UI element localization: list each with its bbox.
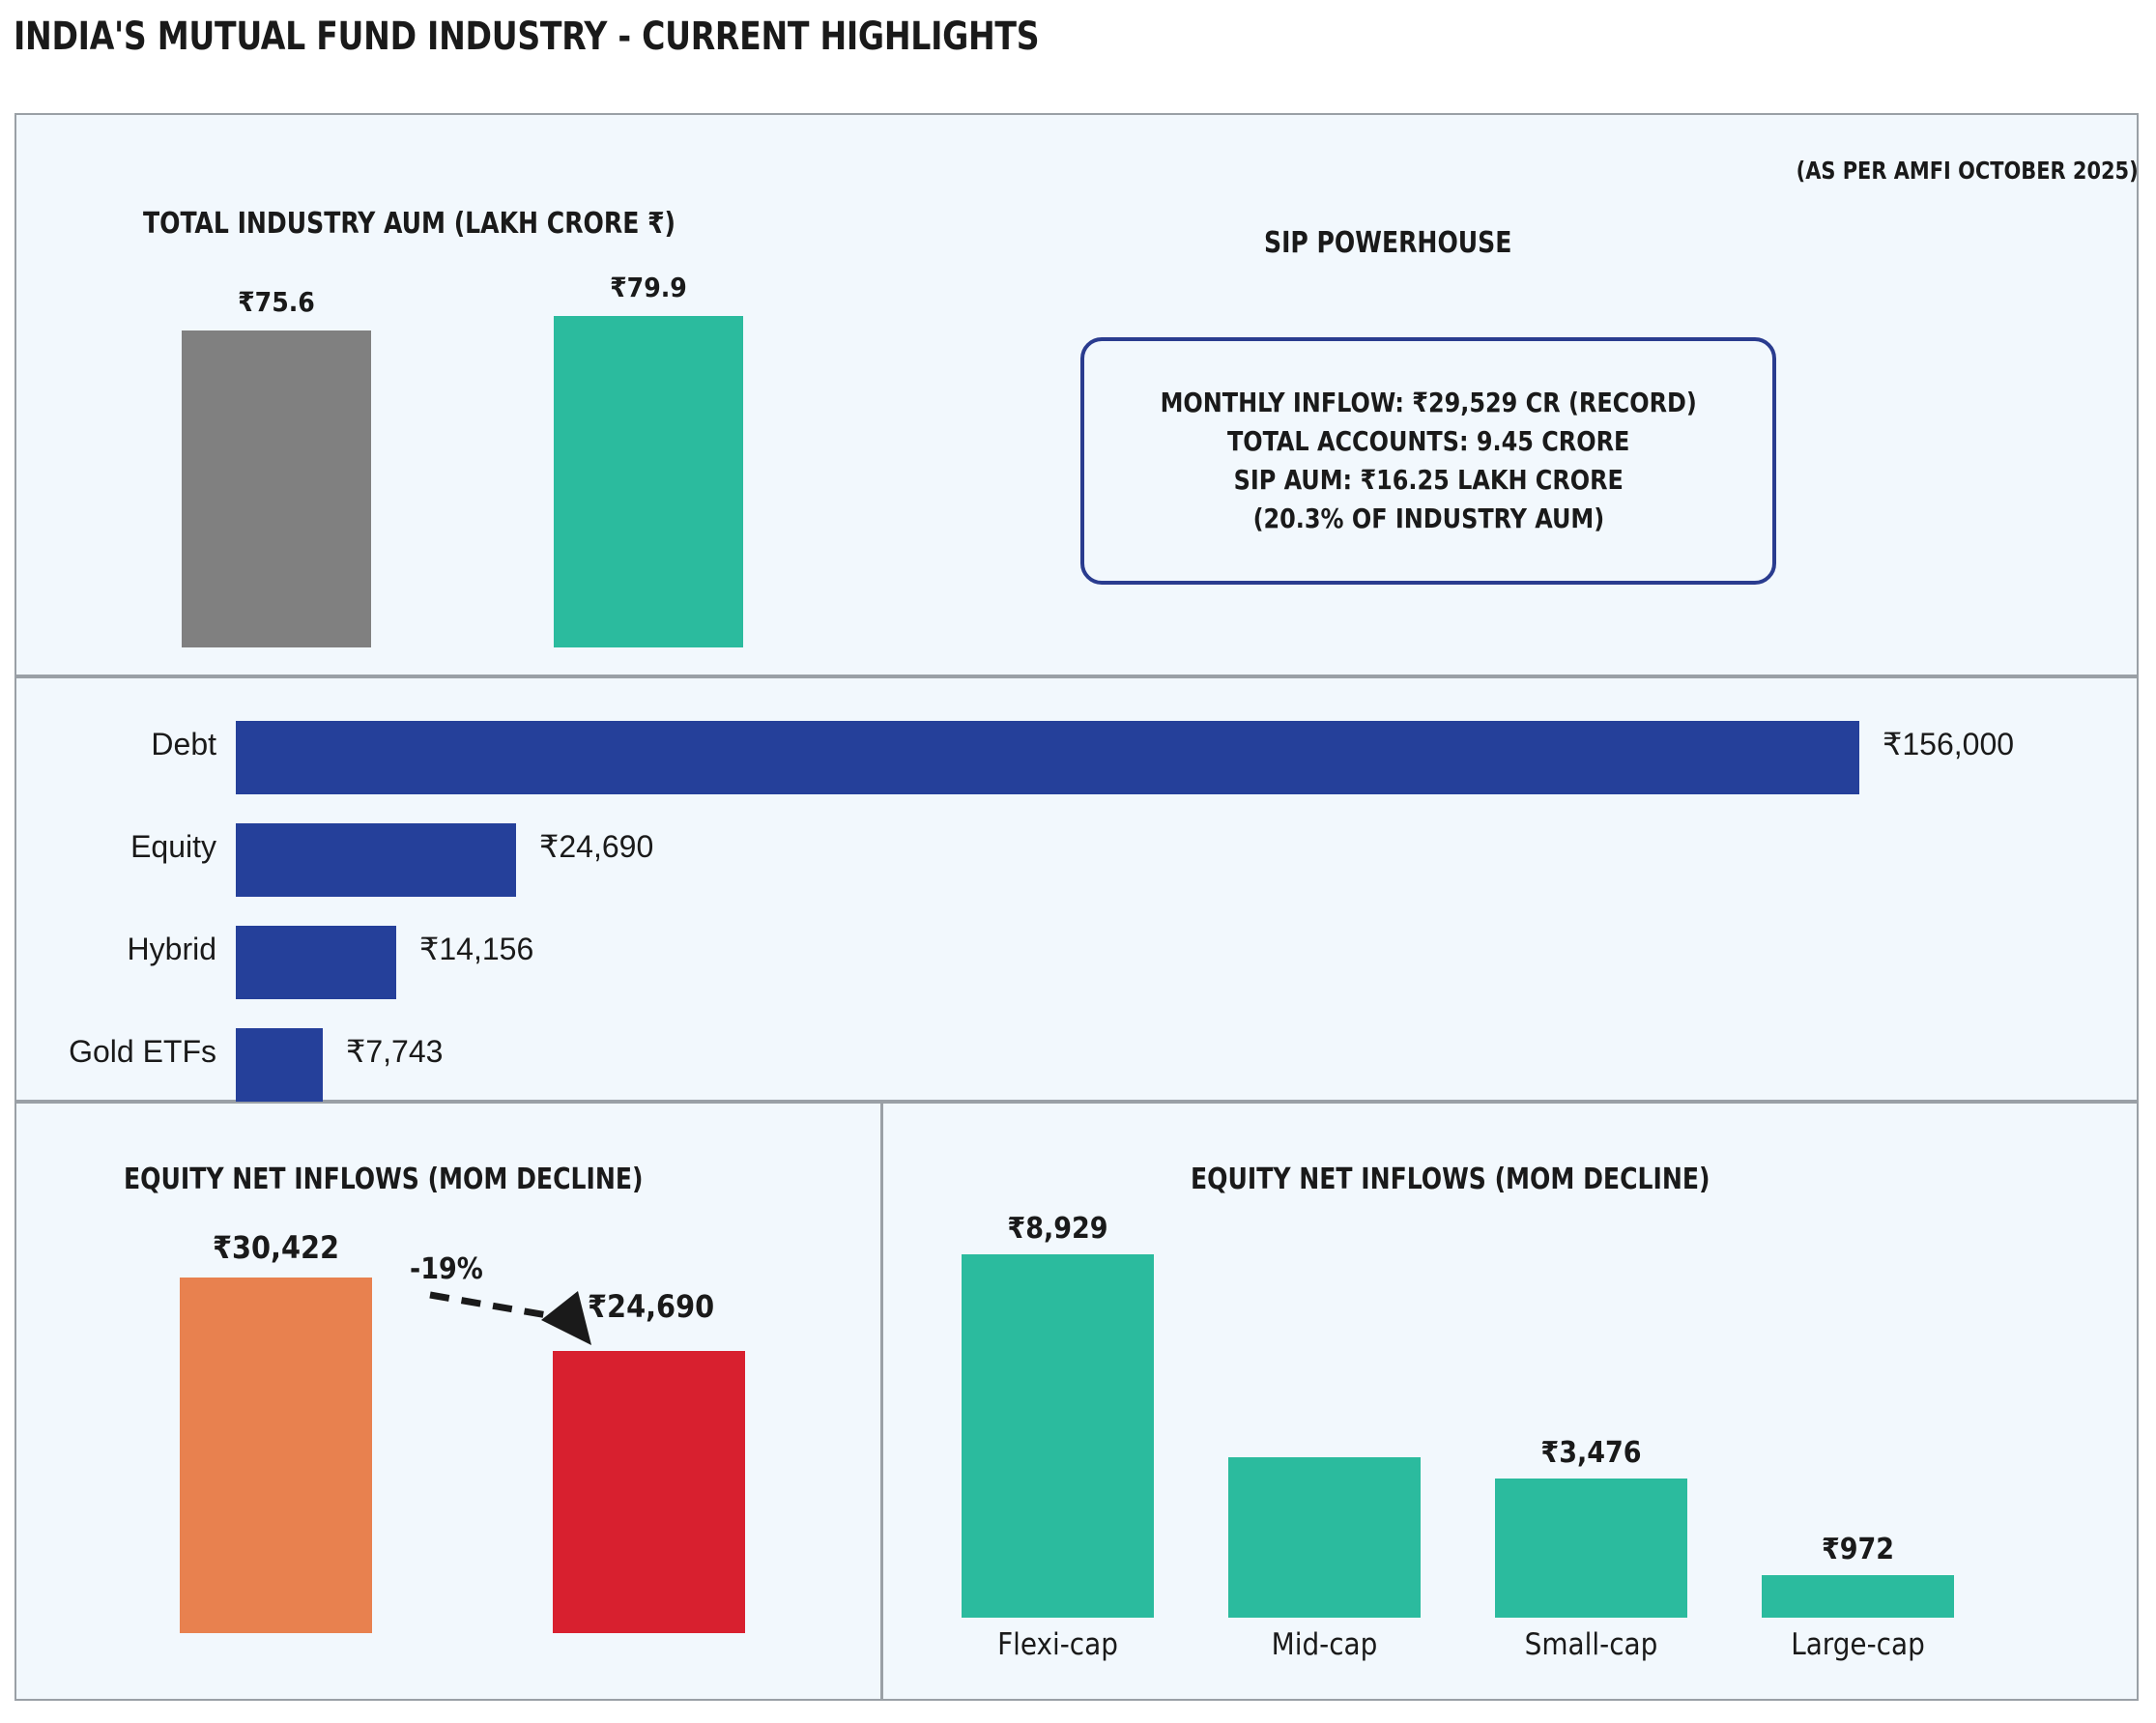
netflow-bar-current	[553, 1351, 745, 1633]
sip-line-1: TOTAL ACCOUNTS: 9.45 CRORE	[1227, 422, 1629, 461]
page-title: INDIA'S MUTUAL FUND INDUSTRY - CURRENT H…	[14, 8, 1969, 66]
category-name-gold-etfs: Gold ETFs	[0, 1015, 216, 1088]
table-row: Equity ₹24,690	[0, 810, 2116, 912]
capbar-name-mid-cap: Mid-cap	[1228, 1623, 1421, 1666]
panel-divider	[880, 1104, 883, 1699]
capbar-label-flexi-cap: ₹8,929	[962, 1212, 1154, 1246]
category-bar-hybrid	[236, 926, 396, 999]
category-bar-equity	[236, 823, 516, 897]
capbar-flexi-cap	[962, 1254, 1154, 1618]
sip-line-3: (20.3% OF INDUSTRY AUM)	[1252, 500, 1604, 538]
netflow-bar-label-previous: ₹30,422	[180, 1229, 372, 1266]
category-value-gold-etfs: ₹7,743	[346, 1015, 443, 1088]
category-name-equity: Equity	[0, 810, 216, 883]
category-bar-debt	[236, 721, 1859, 794]
capbar-name-large-cap: Large-cap	[1762, 1623, 1954, 1666]
category-value-hybrid: ₹14,156	[419, 912, 533, 986]
aum-chart-title: TOTAL INDUSTRY AUM (LAKH CRORE ₹)	[143, 205, 676, 244]
aum-bar-current	[554, 316, 743, 647]
aum-bar-previous	[182, 330, 371, 647]
source-note: (AS PER AMFI OCTOBER 2025)	[1797, 155, 2139, 187]
capbar-label-small-cap: ₹3,476	[1495, 1436, 1687, 1470]
category-bar-gold-etfs	[236, 1028, 323, 1102]
aum-bar-label-1: ₹79.9	[554, 272, 743, 303]
netflow-bar-previous	[180, 1278, 372, 1633]
netflow-right-title: EQUITY NET INFLOWS (MOM DECLINE)	[1191, 1161, 1710, 1199]
category-value-equity: ₹24,690	[539, 810, 653, 883]
table-row: Debt ₹156,000	[0, 707, 2116, 810]
capbar-large-cap	[1762, 1575, 1954, 1618]
sip-section-title: SIP POWERHOUSE	[1264, 224, 1511, 263]
capbar-mid-cap	[1228, 1457, 1421, 1618]
netflow-left-title: EQUITY NET INFLOWS (MOM DECLINE)	[124, 1161, 643, 1199]
capbar-name-flexi-cap: Flexi-cap	[962, 1623, 1154, 1666]
aum-bar-label-0: ₹75.6	[182, 286, 371, 318]
category-value-debt: ₹156,000	[1883, 707, 2014, 781]
table-row: Hybrid ₹14,156	[0, 912, 2116, 1015]
category-name-debt: Debt	[0, 707, 216, 781]
sip-line-0: MONTHLY INFLOW: ₹29,529 CR (RECORD)	[1160, 384, 1696, 422]
sip-stats-box: MONTHLY INFLOW: ₹29,529 CR (RECORD) TOTA…	[1080, 337, 1776, 585]
decline-arrow-icon	[387, 1256, 618, 1372]
capbar-label-large-cap: ₹972	[1762, 1533, 1954, 1566]
capbar-small-cap	[1495, 1479, 1687, 1618]
capbar-name-small-cap: Small-cap	[1495, 1623, 1687, 1666]
sip-line-2: SIP AUM: ₹16.25 LAKH CRORE	[1233, 461, 1623, 500]
category-name-hybrid: Hybrid	[0, 912, 216, 986]
